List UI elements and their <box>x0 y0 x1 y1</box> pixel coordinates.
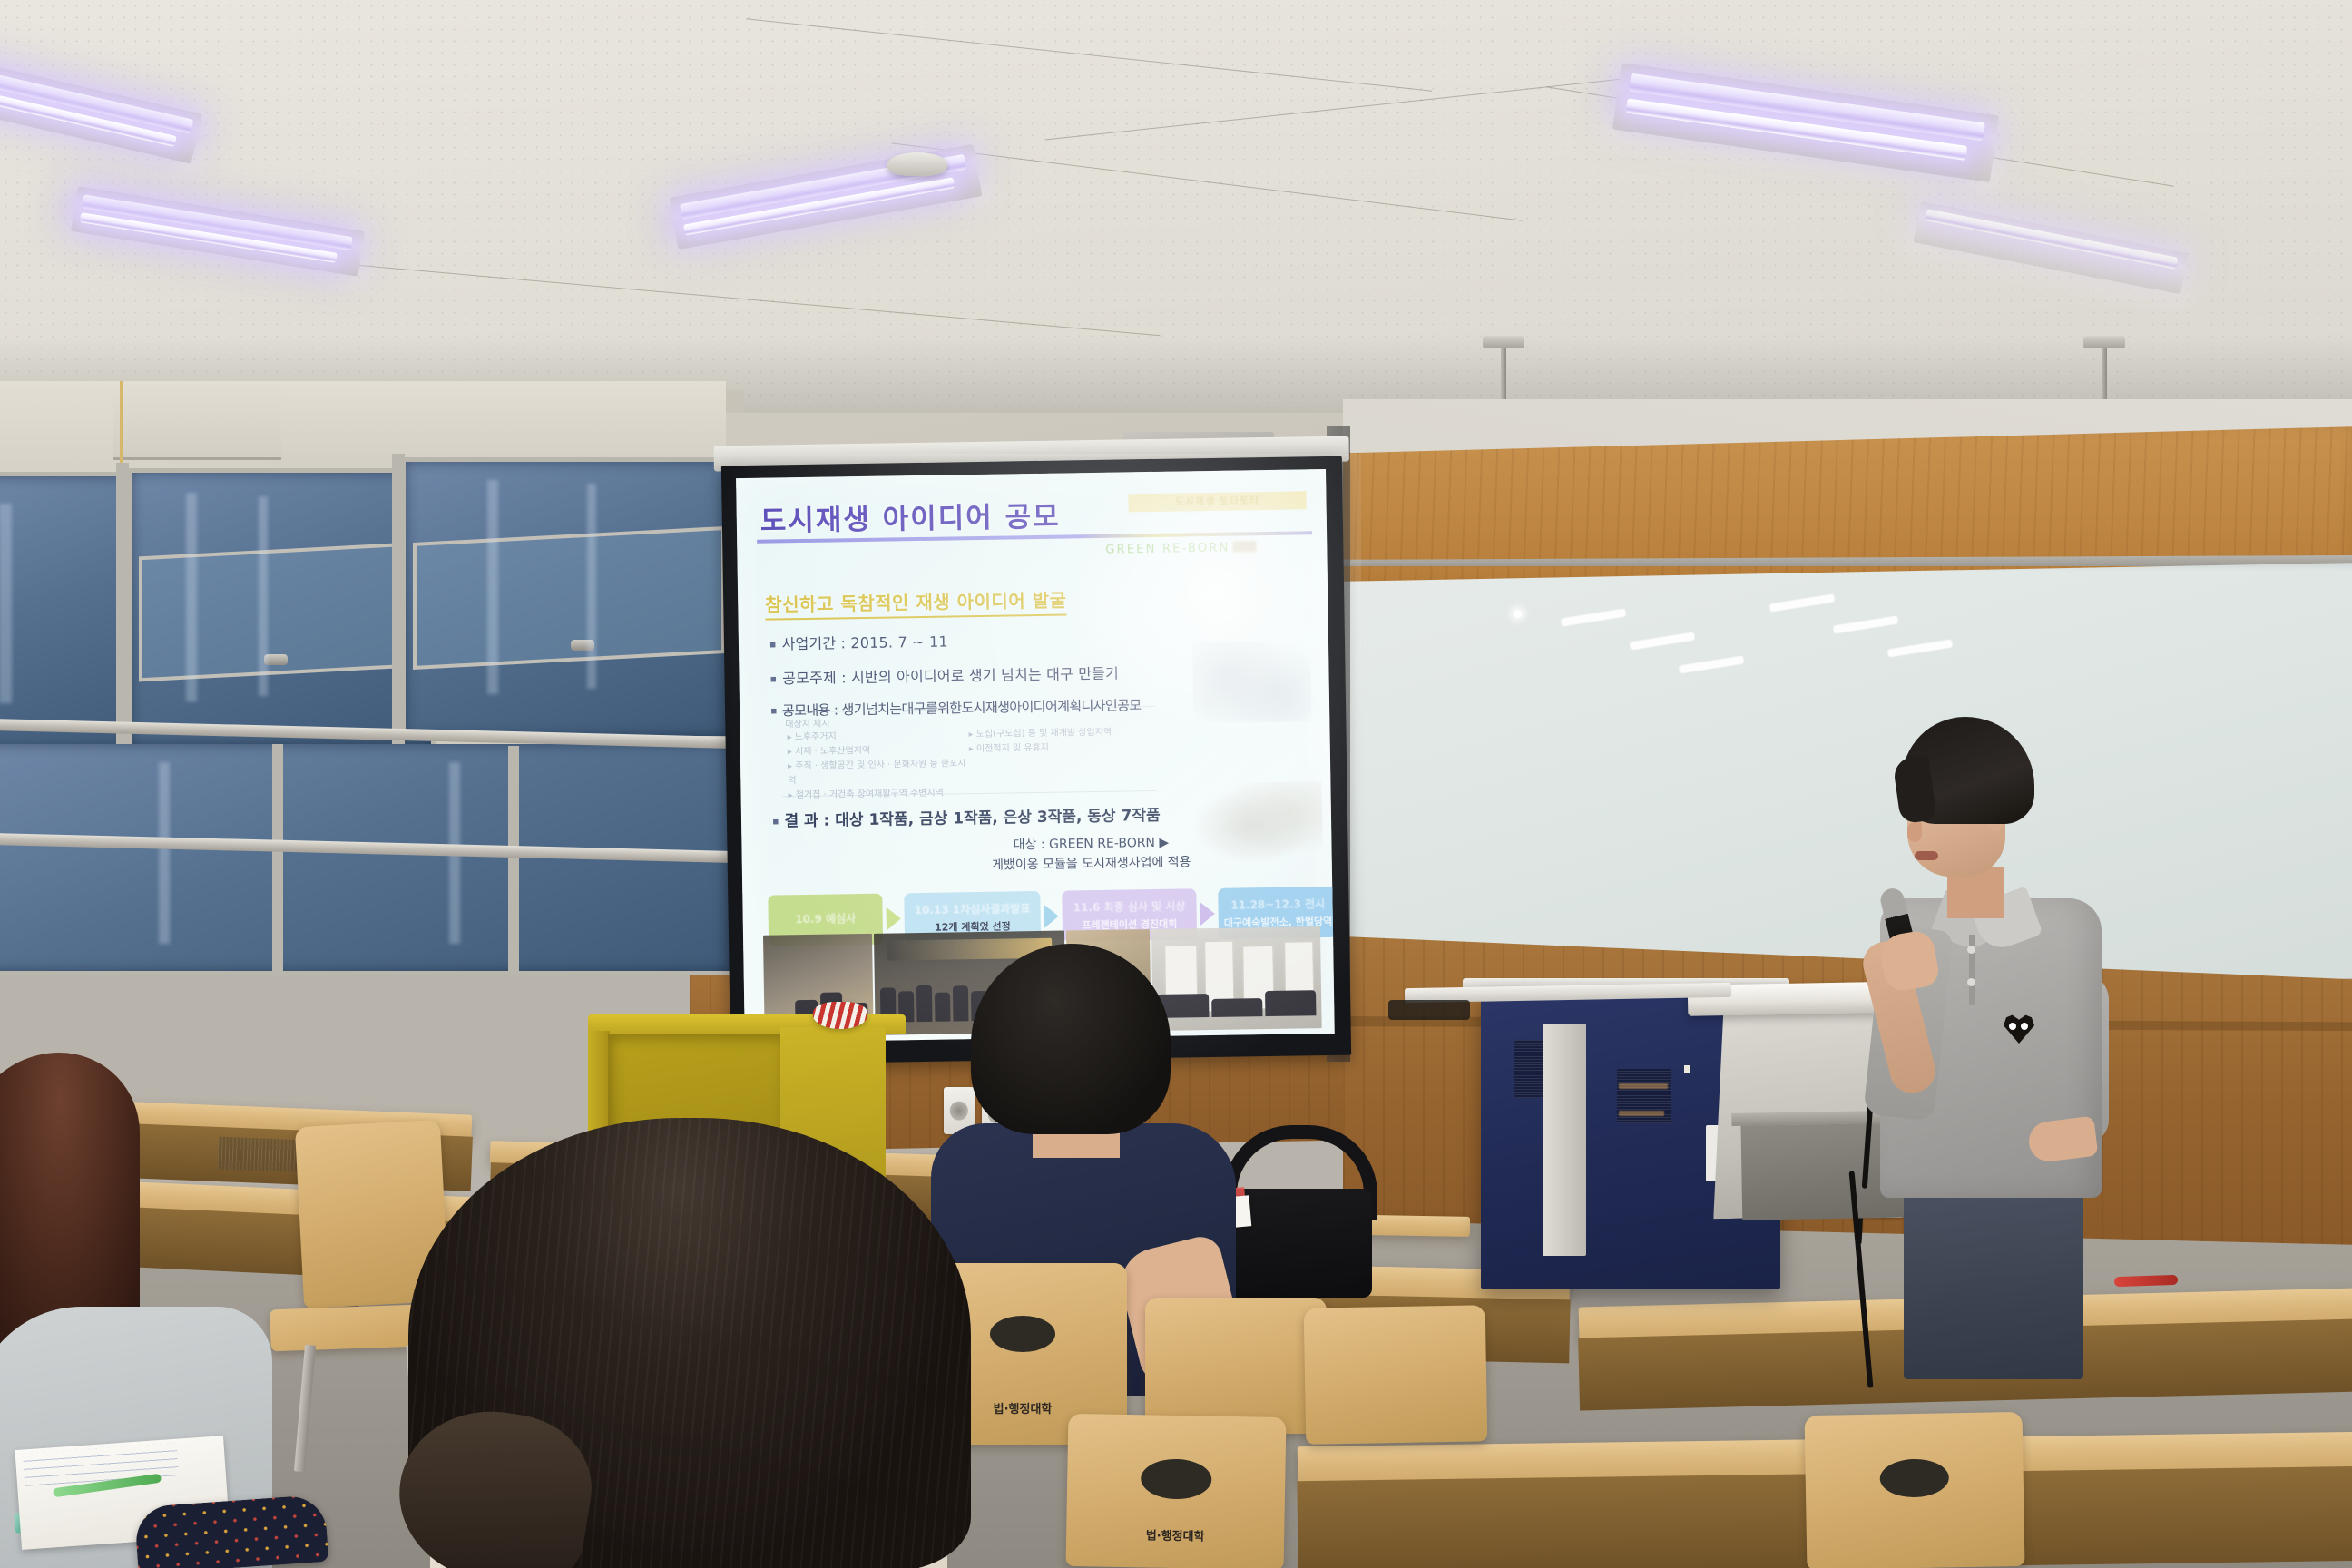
cabinet-label <box>1619 1083 1668 1089</box>
chair-backrest <box>1304 1305 1488 1444</box>
slide-subheading: 참신하고 독참적인 재생 아이디어 발굴 <box>765 585 1067 620</box>
whiteboard-glare <box>1679 655 1745 673</box>
window-mullion <box>508 746 519 971</box>
slide-title: 도시재생 아이디어 공모 <box>759 494 1060 539</box>
slide-render-image <box>1194 781 1322 870</box>
flow-step-top: 11.28~12.3 전시 <box>1230 896 1325 913</box>
whiteboard-glare <box>1833 615 1899 633</box>
window-pane[interactable] <box>401 457 733 740</box>
slide-target-area-box: 대상지 제시 노후주거지 시재 · 노후산업지역 주직 · 생할공간 및 인사 … <box>781 706 1156 797</box>
flow-arrow-icon <box>1200 902 1214 926</box>
pencil-case[interactable] <box>134 1494 329 1568</box>
flow-step-top: 11.6 최종 심사 및 시상 <box>1073 897 1186 915</box>
slide-award-note: 대상 : GREEN RE-BORN ▶ 게뱄이옹 모듈을 도시재생사업에 적용 <box>968 832 1214 876</box>
window-wall <box>0 381 726 944</box>
target-area-heading: 대상지 제시 <box>785 716 829 730</box>
window-mullion <box>116 463 129 753</box>
bullet-item: 사업기간 : 2015. 7 ~ 11 <box>769 625 1196 653</box>
student-long-hair <box>408 1118 971 1568</box>
green-reborn-logo: GREEN RE-BORN <box>1105 542 1230 557</box>
whiteboard-glare <box>1887 639 1954 657</box>
target-area-item: 철거집 · 거건축 장여재활구역 주변지역 <box>788 786 969 803</box>
projector-mount-base <box>2083 336 2125 348</box>
flow-arrow-icon <box>887 906 901 930</box>
whiteboard-glare <box>1630 632 1696 650</box>
award-line-2: 게뱄이옹 모듈을 도시재생사업에 적용 <box>969 852 1214 876</box>
slide-tag-banner-text: 도시재생 토타토타 <box>1128 491 1306 512</box>
podium-item-dark <box>1388 1000 1470 1020</box>
presenter-mouth <box>1915 851 1938 860</box>
target-area-item: 주직 · 생할공간 및 인사 · 문화자원 등 한포지역 <box>788 757 969 789</box>
presenter-person <box>1842 717 2114 1370</box>
target-area-col-right: 도십(구도십) 등 및 재개발 상업지역 이전적지 및 유휴지 <box>968 725 1159 757</box>
projector-mount-base <box>1483 336 1524 348</box>
slide-tag-banner: 도시재생 토타토타 <box>1128 491 1306 512</box>
chair-college-label: 법·행정대학 <box>1146 1525 1205 1543</box>
flow-step-top: 10.13 1차심사결과발표 <box>915 900 1031 917</box>
shirt-button <box>1967 978 1975 986</box>
slide-result-line: 결 과 : 대상 1작품, 금상 1작품, 은상 3작품, 동상 7작품 <box>772 802 1161 831</box>
window-blind[interactable] <box>113 381 285 460</box>
window-pane[interactable] <box>127 468 436 750</box>
microphone-cable <box>1849 1171 1874 1388</box>
window-mullion <box>272 744 283 971</box>
flow-step-top: 10.9 예심사 <box>795 910 856 926</box>
target-area-col-left: 노후주거지 시재 · 노후산업지역 주직 · 생할공간 및 인사 · 문화자원 … <box>787 728 969 803</box>
bullet-item: 공모주제 : 시반의 아이디어로 생기 넘치는 대구 만들기 <box>769 660 1196 688</box>
flow-arrow-icon <box>1044 905 1058 928</box>
striped-item-on-cabinet[interactable] <box>813 1002 867 1029</box>
window-mullion <box>392 454 405 753</box>
chair[interactable] <box>1805 1412 2025 1568</box>
target-area-item: 이전적지 및 유휴지 <box>969 740 1160 757</box>
chair[interactable]: 법·행정대학 <box>1066 1414 1287 1568</box>
classroom-presentation-photo: 도시재생 아이디어 공모 도시재생 토타토타 GREEN RE-BORN 참신하… <box>0 0 2352 1568</box>
logo-mark-icon <box>1232 541 1256 552</box>
whiteboard-glare <box>1769 593 1836 612</box>
window-sash-open[interactable] <box>413 526 725 670</box>
shirt-button <box>1967 946 1975 954</box>
chair[interactable] <box>1304 1305 1488 1444</box>
cabinet-label <box>1619 1111 1664 1116</box>
presenter-jeans <box>1904 1171 2083 1379</box>
presenter-nose <box>1907 822 1922 842</box>
whiteboard-light-dot <box>1514 610 1522 618</box>
smoke-detector-icon <box>887 152 947 176</box>
av-cabinet-handle-strip[interactable] <box>1543 1024 1586 1256</box>
slide-sketch-image <box>1192 640 1311 723</box>
whiteboard-glare <box>1561 608 1627 626</box>
chair[interactable] <box>1145 1298 1327 1434</box>
student-hair <box>971 944 1171 1134</box>
chair-backrest <box>1145 1298 1327 1434</box>
